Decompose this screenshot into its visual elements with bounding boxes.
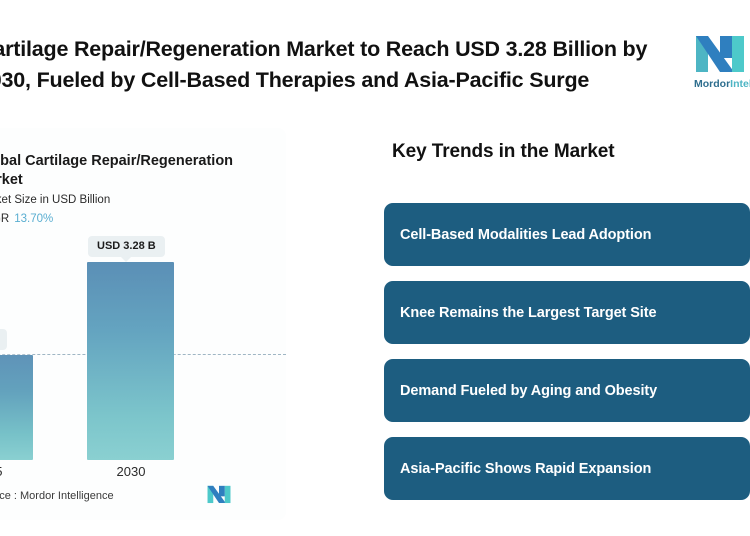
trend-card-label: Asia-Pacific Shows Rapid Expansion xyxy=(384,461,651,477)
bar-2025[interactable] xyxy=(0,355,33,460)
mordor-m-icon xyxy=(694,28,746,74)
cagr-value: 13.70% xyxy=(14,213,53,225)
key-trends-panel: Key Trends in the Market Cell-Based Moda… xyxy=(384,128,750,520)
key-trends-list: Cell-Based Modalities Lead Adoption Knee… xyxy=(384,203,750,515)
x-axis-tick-2025: 2025 xyxy=(0,464,28,479)
trend-card-1[interactable]: Cell-Based Modalities Lead Adoption xyxy=(384,203,750,266)
trend-card-3[interactable]: Demand Fueled by Aging and Obesity xyxy=(384,359,750,422)
trend-card-label: Cell-Based Modalities Lead Adoption xyxy=(384,227,651,243)
trend-card-label: Demand Fueled by Aging and Obesity xyxy=(384,383,657,399)
page-header: Cartilage Repair/Regeneration Market to … xyxy=(0,0,750,110)
key-trends-heading: Key Trends in the Market xyxy=(392,141,615,163)
bar-2030[interactable] xyxy=(87,262,174,460)
brand-word-light: Intelligence xyxy=(730,78,750,90)
chart-title: Global Cartilage Repair/Regeneration Mar… xyxy=(0,152,276,190)
chart-source-text: Source : Mordor Intelligence xyxy=(0,490,114,502)
cagr-row: CAGR13.70% xyxy=(0,213,53,225)
source-mordor-m-icon xyxy=(206,482,232,504)
trend-card-label: Knee Remains the Largest Target Site xyxy=(384,305,656,321)
cagr-label: CAGR xyxy=(0,213,9,225)
trend-card-2[interactable]: Knee Remains the Largest Target Site xyxy=(384,281,750,344)
bar-chart-plot-area: USD 1.73 B USD 3.28 B 2025 2030 xyxy=(0,238,286,460)
brand-word-dark: Mordor xyxy=(694,78,730,90)
chart-subtitle: Market Size in USD Billion xyxy=(0,194,110,206)
page-title: Cartilage Repair/Regeneration Market to … xyxy=(0,34,690,96)
bar-value-label-2030: USD 3.28 B xyxy=(88,236,165,257)
chart-panel: Global Cartilage Repair/Regeneration Mar… xyxy=(0,128,286,520)
trend-card-4[interactable]: Asia-Pacific Shows Rapid Expansion xyxy=(384,437,750,500)
mordor-intelligence-logo: MordorIntelligence xyxy=(694,28,750,98)
brand-wordmark: MordorIntelligence xyxy=(694,78,750,90)
bar-value-label-2025: USD 1.73 B xyxy=(0,329,7,350)
x-axis-tick-2030: 2030 xyxy=(90,464,172,479)
